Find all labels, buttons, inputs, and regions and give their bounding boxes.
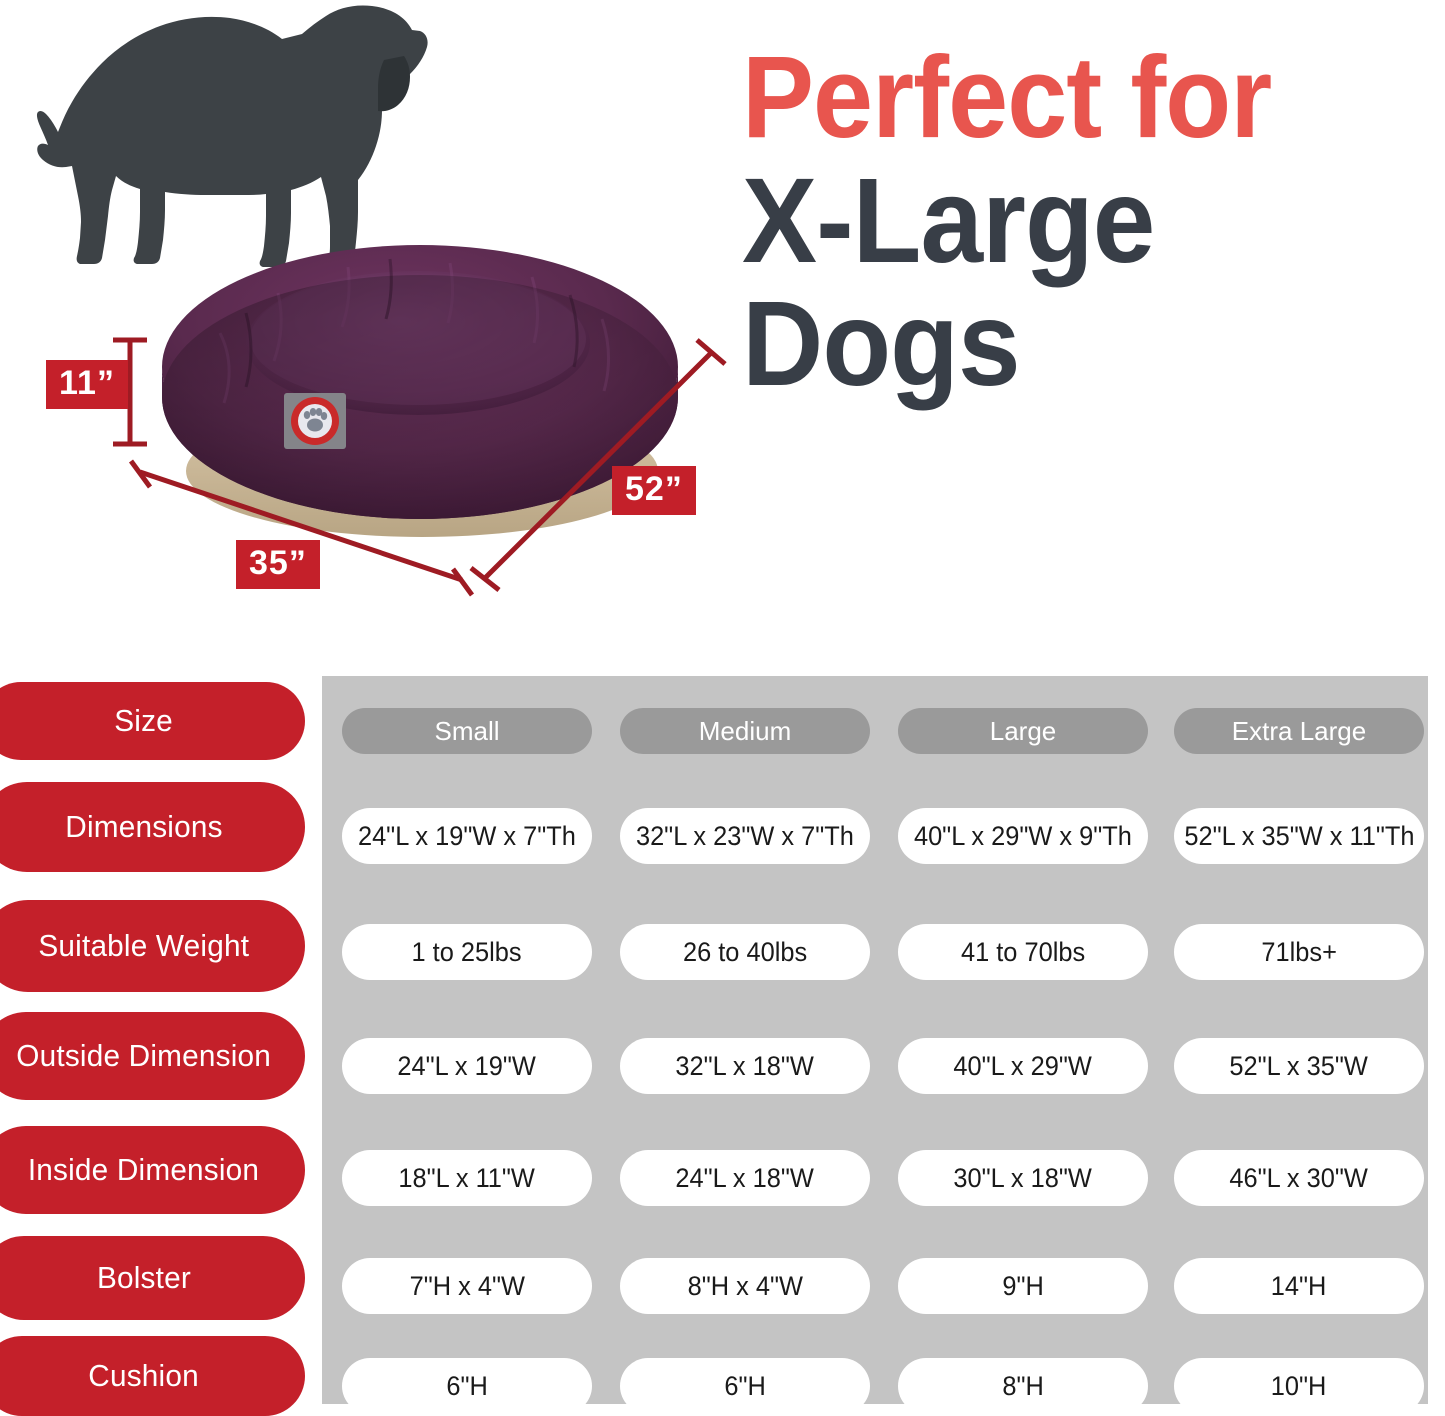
table-cell: 9"H [898,1258,1148,1314]
table-cell-text: 14"H [1271,1271,1327,1302]
row-label-cushion: Cushion [0,1336,305,1416]
table-grid: SmallMediumLargeExtra Large24"L x 19"W x… [322,676,1428,1404]
table-cell-text: 6"H [446,1371,487,1402]
product-photo-dog-bed [150,215,690,555]
table-cell: 24"L x 19"W [342,1038,592,1094]
column-header-large: Large [898,708,1148,754]
column-header-small: Small [342,708,592,754]
row-label-text: Dimensions [65,809,222,845]
column-header-text: Medium [699,716,791,747]
table-cell-text: 7"H x 4"W [409,1271,524,1302]
headline-line-1: Perfect for [742,44,1393,151]
specification-table: SizeDimensionsSuitable WeightOutside Dim… [0,660,1445,1409]
dimension-badge-length: 52” [612,466,696,515]
row-label-text: Inside Dimension [28,1152,259,1188]
table-cell: 1 to 25lbs [342,924,592,980]
table-cell-text: 32"L x 18"W [676,1051,814,1082]
table-cell-text: 6"H [724,1371,765,1402]
table-cell: 40"L x 29"W [898,1038,1148,1094]
table-cell: 41 to 70lbs [898,924,1148,980]
table-cell: 6"H [620,1358,870,1414]
row-label-text: Outside Dimension [16,1038,271,1074]
row-label-bolster: Bolster [0,1236,305,1320]
table-cell: 32"L x 23"W x 7"Th [620,808,870,864]
table-cell-text: 30"L x 18"W [954,1163,1092,1194]
column-header-text: Small [434,716,499,747]
brand-tag [284,393,346,449]
column-header-extra-large: Extra Large [1174,708,1424,754]
table-cell: 7"H x 4"W [342,1258,592,1314]
table-cell-text: 52"L x 35"W [1230,1051,1368,1082]
table-cell: 26 to 40lbs [620,924,870,980]
table-cell: 14"H [1174,1258,1424,1314]
table-cell-text: 46"L x 30"W [1230,1163,1368,1194]
table-cell: 46"L x 30"W [1174,1150,1424,1206]
table-cell-text: 26 to 40lbs [683,937,807,968]
table-cell: 18"L x 11"W [342,1150,592,1206]
row-label-size: Size [0,682,305,760]
row-label-suitable-weight: Suitable Weight [0,900,305,992]
table-cell: 24"L x 18"W [620,1150,870,1206]
headline-line-3: Dogs [742,288,1393,399]
row-label-inside-dimension: Inside Dimension [0,1126,305,1214]
table-cell-text: 24"L x 18"W [676,1163,814,1194]
table-cell: 52"L x 35"W x 11"Th [1174,808,1424,864]
table-cell: 40"L x 29"W x 9"Th [898,808,1148,864]
table-cell-text: 10"H [1271,1371,1327,1402]
table-cell: 71lbs+ [1174,924,1424,980]
column-header-text: Large [990,716,1057,747]
hero-section: Perfect for X-Large Dogs 11” 35” 52” [0,0,1445,660]
table-cell-text: 8"H x 4"W [687,1271,802,1302]
table-cell: 10"H [1174,1358,1424,1414]
table-cell: 30"L x 18"W [898,1150,1148,1206]
table-cell: 32"L x 18"W [620,1038,870,1094]
headline-line-2: X-Large [742,165,1393,276]
table-cell-text: 18"L x 11"W [399,1163,536,1194]
table-cell-text: 52"L x 35"W x 11"Th [1184,821,1414,852]
row-label-text: Cushion [88,1358,199,1394]
table-cell: 6"H [342,1358,592,1414]
table-cell: 52"L x 35"W [1174,1038,1424,1094]
table-cell-text: 32"L x 23"W x 7"Th [636,821,854,852]
headline-block: Perfect for X-Large Dogs [742,44,1442,399]
table-cell: 24"L x 19"W x 7"Th [342,808,592,864]
row-label-outside-dimension: Outside Dimension [0,1012,305,1100]
table-cell-text: 24"L x 19"W [398,1051,536,1082]
row-label-text: Size [114,703,173,739]
table-cell-text: 1 to 25lbs [412,937,522,968]
row-label-text: Suitable Weight [38,928,249,964]
table-cell-text: 40"L x 29"W x 9"Th [914,821,1132,852]
table-cell-text: 8"H [1002,1371,1043,1402]
table-cell-text: 40"L x 29"W [954,1051,1092,1082]
dimension-badge-height: 11” [46,360,128,409]
table-cell-text: 24"L x 19"W x 7"Th [358,821,576,852]
column-header-text: Extra Large [1232,716,1366,747]
table-cell: 8"H x 4"W [620,1258,870,1314]
table-cell: 8"H [898,1358,1148,1414]
table-cell-text: 41 to 70lbs [961,937,1085,968]
row-label-column: SizeDimensionsSuitable WeightOutside Dim… [0,660,312,1409]
table-cell-text: 9"H [1002,1271,1043,1302]
row-label-text: Bolster [97,1260,191,1296]
column-header-medium: Medium [620,708,870,754]
table-cell-text: 71lbs+ [1261,937,1337,968]
row-label-dimensions: Dimensions [0,782,305,872]
dimension-badge-width: 35” [236,540,320,589]
